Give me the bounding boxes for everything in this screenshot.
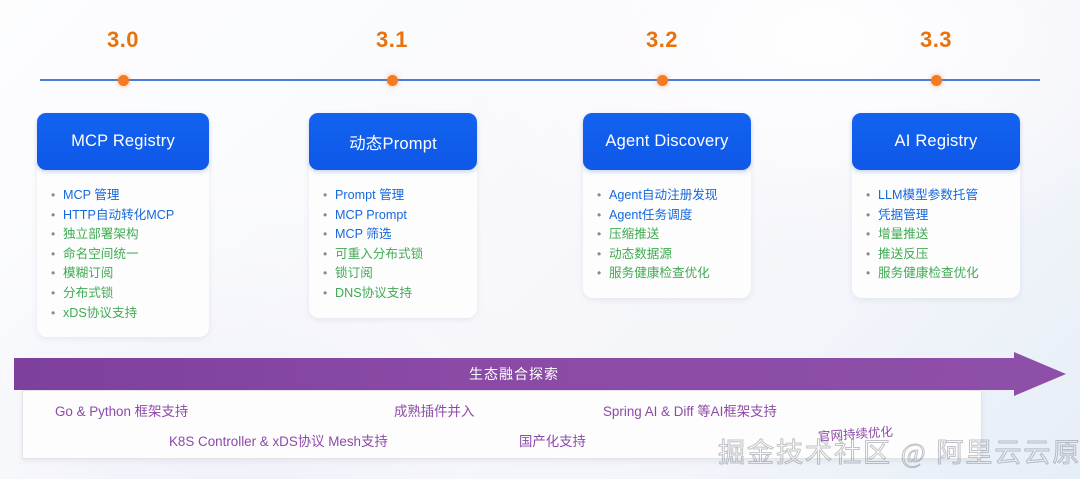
list-item: •推送反压 — [866, 245, 1006, 264]
column-header-3[interactable]: Agent Discovery — [583, 113, 751, 170]
column-body-2: •Prompt 管理•MCP Prompt•MCP 筛选•可重入分布式锁•锁订阅… — [309, 160, 477, 318]
list-item-label: LLM模型参数托管 — [878, 186, 978, 205]
list-item-label: 锁订阅 — [335, 264, 373, 283]
column-header-1[interactable]: MCP Registry — [37, 113, 209, 170]
list-item-label: Agent任务调度 — [609, 206, 692, 225]
banner-label: 生态融合探索 — [14, 358, 1014, 390]
roadmap-slide: 3.03.13.23.3 MCP Registry•MCP 管理•HTTP自动转… — [0, 0, 1080, 479]
list-item-label: 压缩推送 — [609, 225, 659, 244]
list-item: •增量推送 — [866, 225, 1006, 244]
ecosystem-item: Go & Python 框架支持 — [55, 400, 188, 420]
list-item-label: 可重入分布式锁 — [335, 245, 423, 264]
ecosystem-item: K8S Controller & xDS协议 Mesh支持 — [169, 430, 388, 450]
bullet-icon: • — [51, 264, 63, 283]
list-item-label: Prompt 管理 — [335, 186, 404, 205]
bullet-icon: • — [51, 304, 63, 323]
timeline-dot-3.1 — [387, 75, 398, 86]
bullet-icon: • — [597, 186, 609, 205]
bullet-icon: • — [323, 284, 335, 303]
column-header-2[interactable]: 动态Prompt — [309, 113, 477, 170]
bullet-icon: • — [51, 245, 63, 264]
roadmap-column-3: Agent Discovery•Agent自动注册发现•Agent任务调度•压缩… — [583, 113, 751, 298]
version-label-3.3: 3.3 — [896, 27, 976, 53]
version-label-3.1: 3.1 — [352, 27, 432, 53]
list-item-label: xDS协议支持 — [63, 304, 137, 323]
list-item-label: 推送反压 — [878, 245, 928, 264]
list-item: •xDS协议支持 — [51, 304, 195, 323]
list-item: •独立部署架构 — [51, 225, 195, 244]
list-item-label: DNS协议支持 — [335, 284, 412, 303]
column-body-1: •MCP 管理•HTTP自动转化MCP•独立部署架构•命名空间统一•模糊订阅•分… — [37, 160, 209, 337]
list-item-label: HTTP自动转化MCP — [63, 206, 174, 225]
bullet-icon: • — [866, 245, 878, 264]
list-item: •LLM模型参数托管 — [866, 186, 1006, 205]
bullet-icon: • — [323, 225, 335, 244]
bullet-icon: • — [323, 245, 335, 264]
bullet-icon: • — [323, 264, 335, 283]
list-item: •MCP Prompt — [323, 206, 463, 225]
ecosystem-item: Spring AI & Diff 等AI框架支持 — [603, 400, 777, 420]
list-item: •命名空间统一 — [51, 245, 195, 264]
list-item: •Agent自动注册发现 — [597, 186, 737, 205]
column-body-3: •Agent自动注册发现•Agent任务调度•压缩推送•动态数据源•服务健康检查… — [583, 160, 751, 298]
list-item: •MCP 筛选 — [323, 225, 463, 244]
timeline-axis — [40, 79, 1040, 81]
bullet-icon: • — [597, 206, 609, 225]
list-item-label: MCP 筛选 — [335, 225, 391, 244]
list-item: •凭据管理 — [866, 206, 1006, 225]
bullet-icon: • — [51, 186, 63, 205]
ecosystem-arrow-banner: 生态融合探索 — [14, 358, 1066, 390]
list-item-label: 增量推送 — [878, 225, 928, 244]
list-item: •动态数据源 — [597, 245, 737, 264]
list-item-label: 分布式锁 — [63, 284, 113, 303]
bullet-icon: • — [866, 225, 878, 244]
roadmap-column-4: AI Registry•LLM模型参数托管•凭据管理•增量推送•推送反压•服务健… — [852, 113, 1020, 298]
list-item-label: 服务健康检查优化 — [878, 264, 979, 283]
list-item: •Agent任务调度 — [597, 206, 737, 225]
version-label-3.2: 3.2 — [622, 27, 702, 53]
list-item-label: MCP 管理 — [63, 186, 119, 205]
bullet-icon: • — [597, 264, 609, 283]
bullet-icon: • — [51, 206, 63, 225]
list-item-label: MCP Prompt — [335, 206, 407, 225]
roadmap-column-2: 动态Prompt•Prompt 管理•MCP Prompt•MCP 筛选•可重入… — [309, 113, 477, 318]
bullet-icon: • — [597, 245, 609, 264]
list-item: •模糊订阅 — [51, 264, 195, 283]
list-item-label: 服务健康检查优化 — [609, 264, 710, 283]
column-body-4: •LLM模型参数托管•凭据管理•增量推送•推送反压•服务健康检查优化 — [852, 160, 1020, 298]
timeline-dot-3.2 — [657, 75, 668, 86]
roadmap-column-1: MCP Registry•MCP 管理•HTTP自动转化MCP•独立部署架构•命… — [37, 113, 209, 337]
list-item: •MCP 管理 — [51, 186, 195, 205]
list-item: •分布式锁 — [51, 284, 195, 303]
bullet-icon: • — [323, 206, 335, 225]
list-item: •服务健康检查优化 — [866, 264, 1006, 283]
bullet-icon: • — [51, 225, 63, 244]
list-item: •DNS协议支持 — [323, 284, 463, 303]
timeline-dot-3.3 — [931, 75, 942, 86]
column-header-4[interactable]: AI Registry — [852, 113, 1020, 170]
watermark: 掘金技术社区 @ 阿里云云原生 — [718, 431, 1080, 470]
bullet-icon: • — [323, 186, 335, 205]
bullet-icon: • — [866, 264, 878, 283]
list-item-label: Agent自动注册发现 — [609, 186, 717, 205]
bullet-icon: • — [866, 206, 878, 225]
bullet-icon: • — [51, 284, 63, 303]
list-item-label: 动态数据源 — [609, 245, 672, 264]
list-item-label: 凭据管理 — [878, 206, 928, 225]
ecosystem-item: 成熟插件并入 — [394, 400, 474, 420]
list-item: •锁订阅 — [323, 264, 463, 283]
list-item: •压缩推送 — [597, 225, 737, 244]
list-item: •可重入分布式锁 — [323, 245, 463, 264]
list-item-label: 模糊订阅 — [63, 264, 113, 283]
version-label-3.0: 3.0 — [83, 27, 163, 53]
timeline-dot-3.0 — [118, 75, 129, 86]
list-item: •服务健康检查优化 — [597, 264, 737, 283]
bullet-icon: • — [866, 186, 878, 205]
list-item: •HTTP自动转化MCP — [51, 206, 195, 225]
list-item: •Prompt 管理 — [323, 186, 463, 205]
ecosystem-item: 国产化支持 — [519, 430, 586, 450]
list-item-label: 命名空间统一 — [63, 245, 139, 264]
list-item-label: 独立部署架构 — [63, 225, 139, 244]
bullet-icon: • — [597, 225, 609, 244]
arrow-head-icon — [1014, 352, 1066, 396]
